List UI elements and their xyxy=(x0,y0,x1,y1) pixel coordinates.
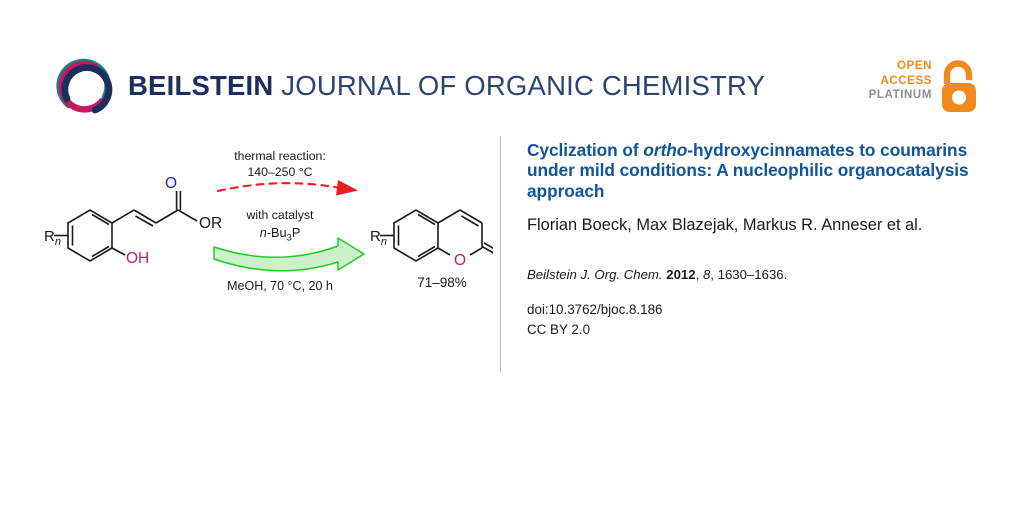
article-license[interactable]: CC BY 2.0 xyxy=(527,320,972,340)
reactant-substituent-label: Rn xyxy=(44,228,61,248)
journal-header: BEILSTEIN JOURNAL OF ORGANIC CHEMISTRY O… xyxy=(0,0,1024,130)
product-ring-oxygen-label: O xyxy=(454,252,466,269)
article-title[interactable]: Cyclization of ortho-hydroxycinnamates t… xyxy=(527,140,972,201)
article-citation: Beilstein J. Org. Chem. 2012, 8, 1630–16… xyxy=(527,266,972,284)
wordmark-journal-of-organic-chemistry: JOURNAL OF ORGANIC CHEMISTRY xyxy=(273,70,765,101)
thermal-arrow-icon xyxy=(218,180,358,196)
open-padlock-icon xyxy=(938,60,980,114)
catalyst-condition-line1: with catalyst xyxy=(246,208,315,222)
thermal-condition-line2: 140–250 °C xyxy=(247,165,312,179)
article-preview-card: BEILSTEIN JOURNAL OF ORGANIC CHEMISTRY O… xyxy=(0,0,1024,512)
thermal-condition-line1: thermal reaction: xyxy=(234,149,326,163)
citation-pages: 1630–1636. xyxy=(718,267,788,282)
beilstein-logo-icon xyxy=(55,57,117,119)
article-doi[interactable]: doi:10.3762/bjoc.8.186 xyxy=(527,300,972,320)
wordmark-beilstein: BEILSTEIN xyxy=(128,70,273,101)
article-authors: Florian Boeck, Max Blazejak, Markus R. A… xyxy=(527,215,972,236)
reaction-scheme-graphic: Rn O OR OH thermal reaction: 140–250 °C … xyxy=(28,135,493,295)
open-access-line-open: OPEN xyxy=(858,59,932,74)
catalyst-solvent-line: MeOH, 70 °C, 20 h xyxy=(227,279,333,293)
open-access-label: OPEN ACCESS PLATINUM xyxy=(858,59,932,103)
citation-journal: Beilstein J. Org. Chem. xyxy=(527,267,663,282)
open-access-line-access: ACCESS xyxy=(858,74,932,89)
product-substituent-label: Rn xyxy=(370,228,387,248)
citation-year: 2012 xyxy=(666,267,695,282)
journal-wordmark: BEILSTEIN JOURNAL OF ORGANIC CHEMISTRY xyxy=(128,72,765,100)
citation-sep-2: , xyxy=(696,267,703,282)
product-structure xyxy=(380,210,493,261)
article-metadata: Cyclization of ortho-hydroxycinnamates t… xyxy=(527,140,972,339)
title-italic-ortho: ortho xyxy=(643,140,687,160)
reactant-ester-label: OR xyxy=(199,215,222,232)
title-segment-1: Cyclization of xyxy=(527,140,643,160)
open-access-line-platinum: PLATINUM xyxy=(858,88,932,103)
citation-sep-3: , xyxy=(710,267,717,282)
catalyst-condition-line2: n-Bu3P xyxy=(260,226,301,244)
column-divider xyxy=(500,136,501,372)
reactant-hydroxyl-label: OH xyxy=(126,250,149,267)
product-yield-label: 71–98% xyxy=(417,275,467,290)
open-access-badge: OPEN ACCESS PLATINUM xyxy=(873,59,980,115)
reactant-carbonyl-oxygen-label: O xyxy=(165,175,177,192)
